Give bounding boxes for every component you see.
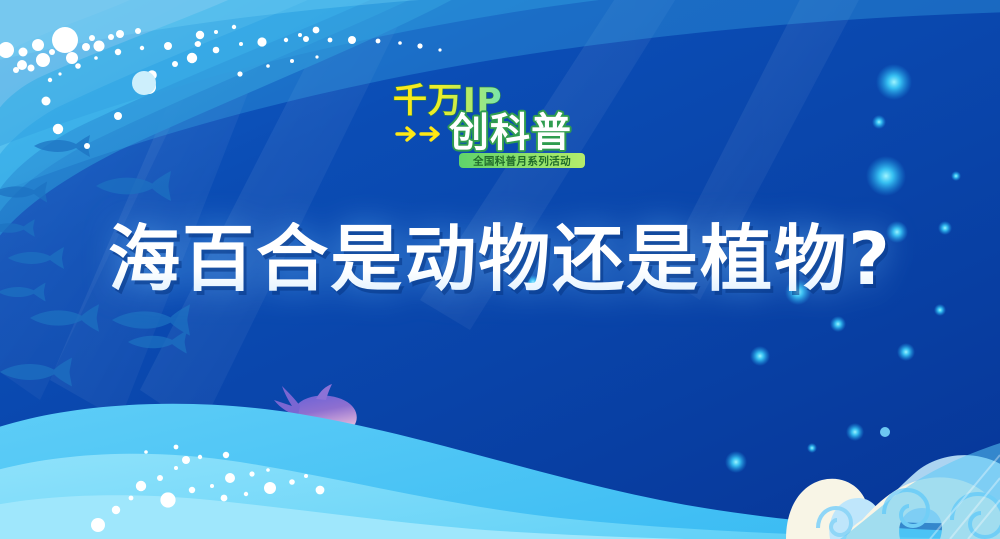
main-title-wrapper: 海百合是动物还是植物? bbox=[0, 222, 1000, 298]
page-title: 海百合是动物还是植物? bbox=[108, 222, 892, 298]
poster-root: 千万IP 创科普 全国科普月系列活动 海百合是动物还是植物? bbox=[0, 0, 1000, 539]
